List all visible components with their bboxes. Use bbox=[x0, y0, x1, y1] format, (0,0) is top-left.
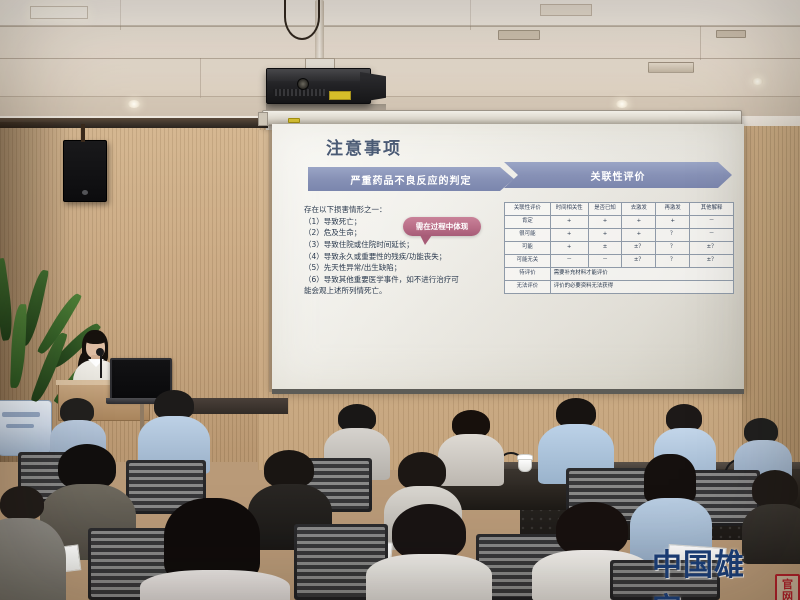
table-cell: + bbox=[588, 216, 622, 229]
table-note: 评价的必要资料无法获得 bbox=[550, 281, 733, 294]
tea-cup-lid bbox=[517, 454, 533, 460]
audience-hair bbox=[392, 504, 466, 560]
list-item: （4）导致永久或重要性的残疾/功能丧失； bbox=[304, 251, 509, 263]
table-cell: ？ bbox=[656, 255, 690, 268]
row-label: 待评价 bbox=[505, 268, 551, 281]
table-row: 无法评价 评价的必要资料无法获得 bbox=[505, 281, 734, 294]
table-cell: + bbox=[656, 216, 690, 229]
ceiling-light bbox=[540, 4, 592, 16]
table-cell: + bbox=[622, 229, 656, 242]
table-cell: － bbox=[550, 255, 588, 268]
table-cell: ？ bbox=[656, 242, 690, 255]
side-table bbox=[178, 398, 288, 414]
speaker-bracket bbox=[81, 124, 85, 142]
list-item: （6）导致其他重要医学事件，如不进行治疗可 bbox=[304, 274, 509, 286]
audience-hair bbox=[644, 454, 696, 504]
table-row: 可能 + ± ±？ ？ ±？ bbox=[505, 242, 734, 255]
ceiling-panel bbox=[0, 0, 800, 26]
tea-cup bbox=[518, 458, 532, 472]
projection-screen: 注意事项 严重药品不良反应的判定 关联性评价 存在以下损害情形之一： （1）导致… bbox=[272, 124, 744, 392]
table-note: 需要补充材料才能评价 bbox=[550, 268, 733, 281]
podium-mic-head bbox=[96, 348, 104, 356]
projector-side-panel bbox=[360, 72, 386, 102]
table-cell: ？ bbox=[656, 229, 690, 242]
table-cell: ±？ bbox=[690, 255, 734, 268]
bullet-intro: 存在以下损害情形之一： bbox=[304, 204, 509, 216]
screen-bottom-bar bbox=[272, 389, 744, 394]
projector-label bbox=[329, 91, 351, 100]
column-header: 关联性评价 bbox=[505, 203, 551, 216]
wall-dark-band bbox=[0, 118, 268, 128]
ceiling-downlight bbox=[128, 100, 140, 108]
screen-brand-badge bbox=[288, 118, 300, 123]
ceiling-light bbox=[30, 6, 88, 19]
list-item: （5）先天性异常/出生缺陷； bbox=[304, 262, 509, 274]
audience-hair bbox=[556, 502, 628, 556]
table-cell: + bbox=[550, 229, 588, 242]
table-cell: + bbox=[588, 229, 622, 242]
audience-hair bbox=[264, 450, 314, 488]
causality-assessment-table: 关联性评价 时间相关性 是否已知 去激发 再激发 其他解释 肯定 + + + + bbox=[504, 202, 734, 294]
slide: 注意事项 严重药品不良反应的判定 关联性评价 存在以下损害情形之一： （1）导致… bbox=[272, 124, 744, 392]
projector-lens bbox=[297, 78, 309, 90]
table-row: 肯定 + + + + － bbox=[505, 216, 734, 229]
table-row: 很可能 + + + ？ － bbox=[505, 229, 734, 242]
list-item: （3）导致住院或住院时间延长； bbox=[304, 239, 509, 251]
plant-pot-pattern bbox=[6, 424, 34, 428]
table-header-row: 关联性评价 时间相关性 是否已知 去激发 再激发 其他解释 bbox=[505, 203, 734, 216]
watermark-brand: 中国雄安 bbox=[652, 540, 771, 600]
speaker-driver-icon bbox=[82, 190, 88, 195]
row-label: 无法评价 bbox=[505, 281, 551, 294]
table-row: 待评价 需要补充材料才能评价 bbox=[505, 268, 734, 281]
audience-hair bbox=[398, 452, 446, 490]
row-label: 肯定 bbox=[505, 216, 551, 229]
slide-banner-right: 关联性评价 bbox=[504, 162, 732, 188]
presenter-hair-front bbox=[85, 333, 106, 344]
column-header: 时间相关性 bbox=[550, 203, 588, 216]
ceiling-downlight bbox=[752, 78, 763, 85]
audience-torso bbox=[366, 554, 492, 600]
audience-torso bbox=[438, 434, 504, 486]
table-cell: + bbox=[550, 242, 588, 255]
table-cell: － bbox=[588, 255, 622, 268]
column-header: 其他解释 bbox=[690, 203, 734, 216]
table-cell: － bbox=[690, 216, 734, 229]
watermark: 中国雄安 www.xiongan.gov.cn 官 网 bbox=[652, 540, 800, 600]
audience-hair bbox=[0, 486, 44, 520]
audience-torso bbox=[140, 570, 290, 600]
row-label: 很可能 bbox=[505, 229, 551, 242]
ceiling-downlight bbox=[616, 100, 628, 108]
screen-housing-endcap bbox=[258, 112, 268, 126]
slide-banner-left-label: 严重药品不良反应的判定 bbox=[351, 172, 472, 187]
table-cell: ±？ bbox=[690, 242, 734, 255]
column-header: 再激发 bbox=[656, 203, 690, 216]
slide-callout-bubble: 需在过程中体现 bbox=[403, 217, 481, 236]
table-cell: － bbox=[690, 229, 734, 242]
table-cell: + bbox=[550, 216, 588, 229]
ceiling-vent bbox=[498, 30, 540, 40]
table-cell: ± bbox=[588, 242, 622, 255]
audience-hair bbox=[752, 470, 798, 508]
table-cell: + bbox=[622, 216, 656, 229]
ceiling-vent bbox=[716, 30, 746, 38]
table-row: 可能无关 － － ±？ ？ ±？ bbox=[505, 255, 734, 268]
watermark-seal: 官 网 bbox=[775, 574, 800, 600]
screen-left-edge bbox=[269, 124, 272, 392]
ceiling-projector bbox=[266, 68, 371, 104]
seal-line-1: 官 bbox=[782, 579, 793, 591]
slide-banner-right-label: 关联性评价 bbox=[591, 168, 646, 183]
table-cell: ±？ bbox=[622, 255, 656, 268]
list-item: 能会观上述所列情死亡。 bbox=[304, 285, 509, 297]
column-header: 去激发 bbox=[622, 203, 656, 216]
row-label: 可能 bbox=[505, 242, 551, 255]
ceiling-vent bbox=[648, 62, 694, 73]
slide-title: 注意事项 bbox=[326, 134, 402, 159]
callout-tail-icon bbox=[420, 235, 432, 245]
table-cell: ±？ bbox=[622, 242, 656, 255]
row-label: 可能无关 bbox=[505, 255, 551, 268]
column-header: 是否已知 bbox=[588, 203, 622, 216]
conference-room-photo: 注意事项 严重药品不良反应的判定 关联性评价 存在以下损害情形之一： （1）导致… bbox=[0, 0, 800, 600]
slide-callout-label: 需在过程中体现 bbox=[416, 221, 469, 232]
seal-line-2: 网 bbox=[782, 591, 793, 600]
slide-banner-left: 严重药品不良反应的判定 bbox=[308, 167, 514, 191]
